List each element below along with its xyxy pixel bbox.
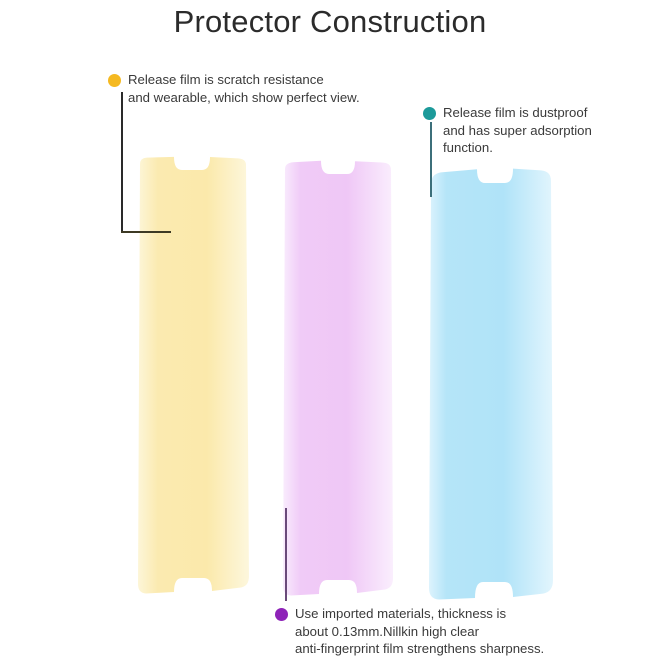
blue-film-panel — [425, 168, 557, 602]
callout-scratch-resistance: Release film is scratch resistance and w… — [108, 71, 408, 106]
callout-dustproof-text: Release film is dustproof and has super … — [443, 104, 592, 157]
leader-line-imported-materials — [285, 508, 287, 601]
protector-construction-illustration: Protector Construction — [0, 0, 660, 660]
callout-dustproof: Release film is dustproof and has super … — [423, 104, 643, 157]
bullet-yellow-icon — [108, 74, 121, 87]
pink-film-panel — [275, 160, 399, 600]
bullet-teal-icon — [423, 107, 436, 120]
callout-scratch-resistance-text: Release film is scratch resistance and w… — [128, 71, 360, 106]
callout-imported-materials: Use imported materials, thickness is abo… — [275, 605, 605, 658]
callout-imported-materials-text: Use imported materials, thickness is abo… — [295, 605, 544, 658]
bullet-purple-icon — [275, 608, 288, 621]
page-title: Protector Construction — [0, 4, 660, 40]
yellow-film-panel — [130, 156, 254, 596]
leader-line-scratch-vertical — [121, 92, 123, 233]
leader-line-scratch-horizontal — [121, 231, 171, 233]
